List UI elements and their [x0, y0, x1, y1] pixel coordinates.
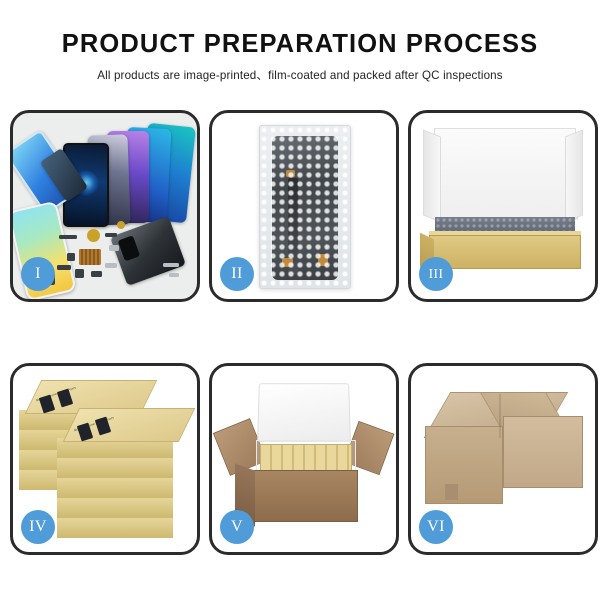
- carton-tape-seam: [499, 394, 501, 438]
- infographic-page: PRODUCT PREPARATION PROCESS All products…: [0, 0, 600, 600]
- gold-connector-tab: [282, 258, 293, 267]
- step-badge-4: IV: [21, 510, 55, 544]
- box-lid-side-left: [423, 129, 441, 222]
- step-badge-2: II: [220, 257, 254, 291]
- small-part-strip: [59, 235, 77, 239]
- stacked-box: [57, 498, 173, 518]
- gold-connector-tab: [318, 254, 328, 266]
- step-badge-1: I: [21, 257, 55, 291]
- process-step-2: II: [209, 110, 399, 302]
- page-title: PRODUCT PREPARATION PROCESS: [0, 30, 600, 58]
- stacked-box: [57, 478, 173, 498]
- stacked-box: [57, 518, 173, 538]
- foam-lid: [257, 383, 351, 442]
- stacked-box: [57, 458, 173, 478]
- bubble-wrap-bag: [259, 125, 351, 289]
- small-part-strip: [169, 273, 179, 277]
- process-step-4: Mobile Phone Spare Parts Mobile Phone Sp…: [10, 363, 200, 555]
- small-part-strip: [105, 233, 117, 237]
- small-part-chip: [109, 245, 119, 251]
- small-part-strip: [105, 263, 117, 268]
- kraft-box-front: [429, 235, 581, 269]
- small-part-chip: [67, 253, 75, 261]
- step-badge-5: V: [220, 510, 254, 544]
- header: PRODUCT PREPARATION PROCESS All products…: [0, 0, 600, 83]
- logic-board-part: [79, 249, 101, 265]
- box-lid-flap: [432, 128, 578, 220]
- small-part-gold: [117, 221, 125, 229]
- carton-corner-tab: [445, 432, 459, 450]
- carton-side-face-right: [503, 416, 583, 488]
- small-part-strip: [163, 263, 179, 267]
- process-step-1: I: [10, 110, 200, 302]
- process-step-grid: I II: [10, 110, 598, 555]
- carton-body: [250, 470, 358, 522]
- small-part-chip: [75, 269, 84, 278]
- step-badge-6: VI: [419, 510, 453, 544]
- process-step-3: III: [408, 110, 598, 302]
- process-step-6: VI: [408, 363, 598, 555]
- carton-side-face-left: [425, 426, 503, 504]
- carton-corner-tab: [445, 484, 458, 500]
- box-lid-side-right: [565, 129, 583, 222]
- page-subtitle: All products are image-printed、film-coat…: [0, 67, 600, 83]
- small-part-strip: [57, 265, 71, 270]
- process-step-5: V: [209, 363, 399, 555]
- step-badge-3: III: [419, 257, 453, 291]
- gold-connector-tab: [286, 170, 295, 177]
- small-part-chip: [91, 271, 102, 277]
- speaker-part-icon: [87, 229, 100, 242]
